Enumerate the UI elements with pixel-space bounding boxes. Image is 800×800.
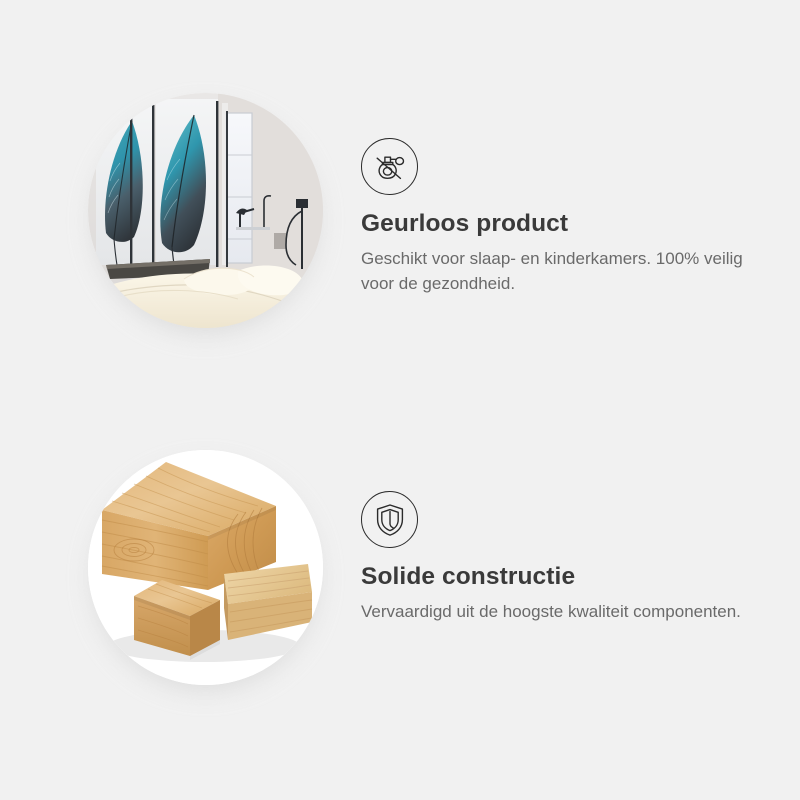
product-feature-panel: Geurloos product Geschikt voor slaap- en… [0, 0, 800, 800]
feature-block-solide-constructie: Solide constructie Vervaardigd uit de ho… [0, 450, 800, 710]
feature-description: Vervaardigd uit de hoogste kwaliteit com… [361, 600, 746, 625]
feature-block-geurloos-product: Geurloos product Geschikt voor slaap- en… [0, 93, 800, 353]
feature-title: Solide constructie [361, 563, 756, 592]
circular-photo-wooden-beams [88, 450, 323, 685]
no-fragrance-icon [361, 138, 418, 195]
feature-text-geurloos-product: Geurloos product Geschikt voor slaap- en… [361, 210, 756, 297]
feature-description: Geschikt voor slaap- en kinderkamers. 10… [361, 247, 746, 297]
feature-image-solide-constructie [88, 450, 323, 685]
circular-photo-feather-bedroom [88, 93, 323, 328]
feature-image-geurloos-product [88, 93, 323, 328]
shield-icon [361, 491, 418, 548]
feature-text-solide-constructie: Solide constructie Vervaardigd uit de ho… [361, 563, 756, 625]
feature-title: Geurloos product [361, 210, 756, 239]
